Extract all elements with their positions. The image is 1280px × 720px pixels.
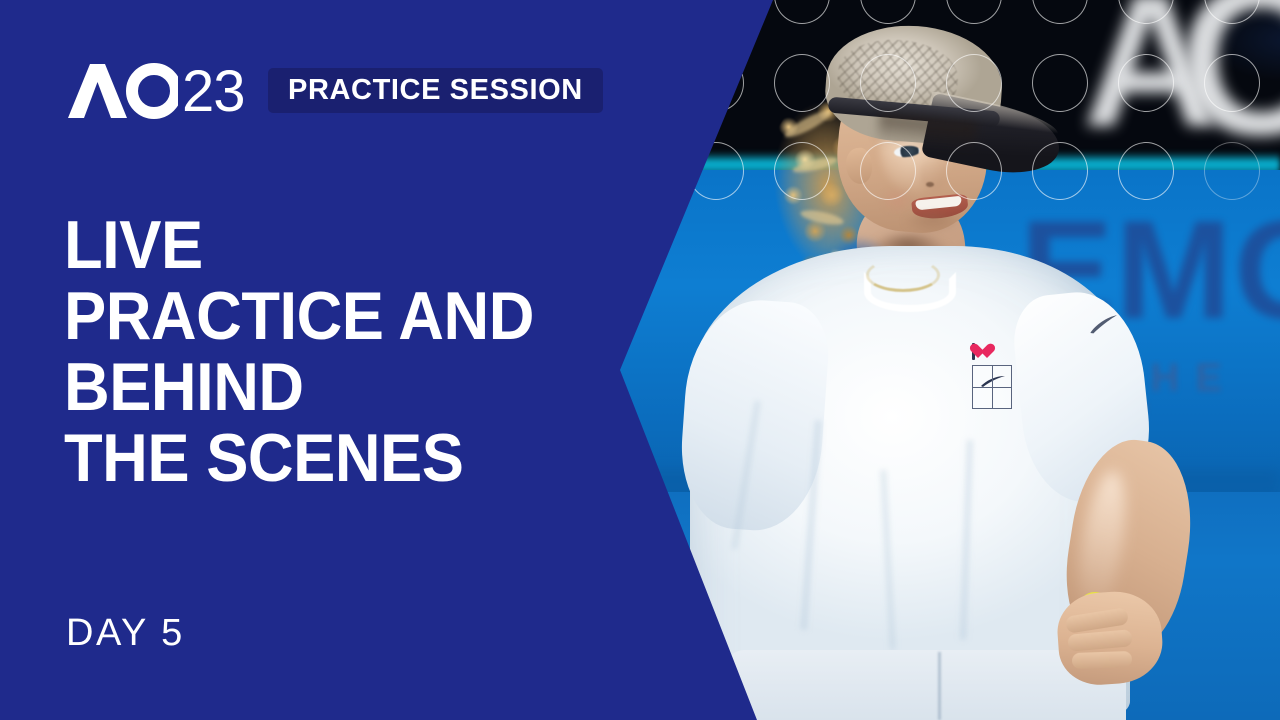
page-title: LIVE PRACTICE AND BEHIND THE SCENES	[64, 210, 534, 494]
headline-line-2: PRACTICE AND	[64, 281, 534, 352]
ao-logo: 23	[66, 62, 245, 120]
day-label: DAY 5	[66, 612, 185, 655]
practice-session-badge: PRACTICE SESSION	[268, 68, 603, 113]
ao-year-label: 23	[182, 63, 245, 121]
headline-line-3: BEHIND	[64, 352, 534, 423]
title-card-content: 23 PRACTICE SESSION LIVE PRACTICE AND BE…	[0, 0, 1280, 720]
ao-monogram-icon	[66, 63, 178, 119]
headline-line-1: LIVE	[64, 210, 534, 281]
headline-line-4: THE SCENES	[64, 423, 534, 494]
broadcast-title-card: A O EMG THE W	[0, 0, 1280, 720]
